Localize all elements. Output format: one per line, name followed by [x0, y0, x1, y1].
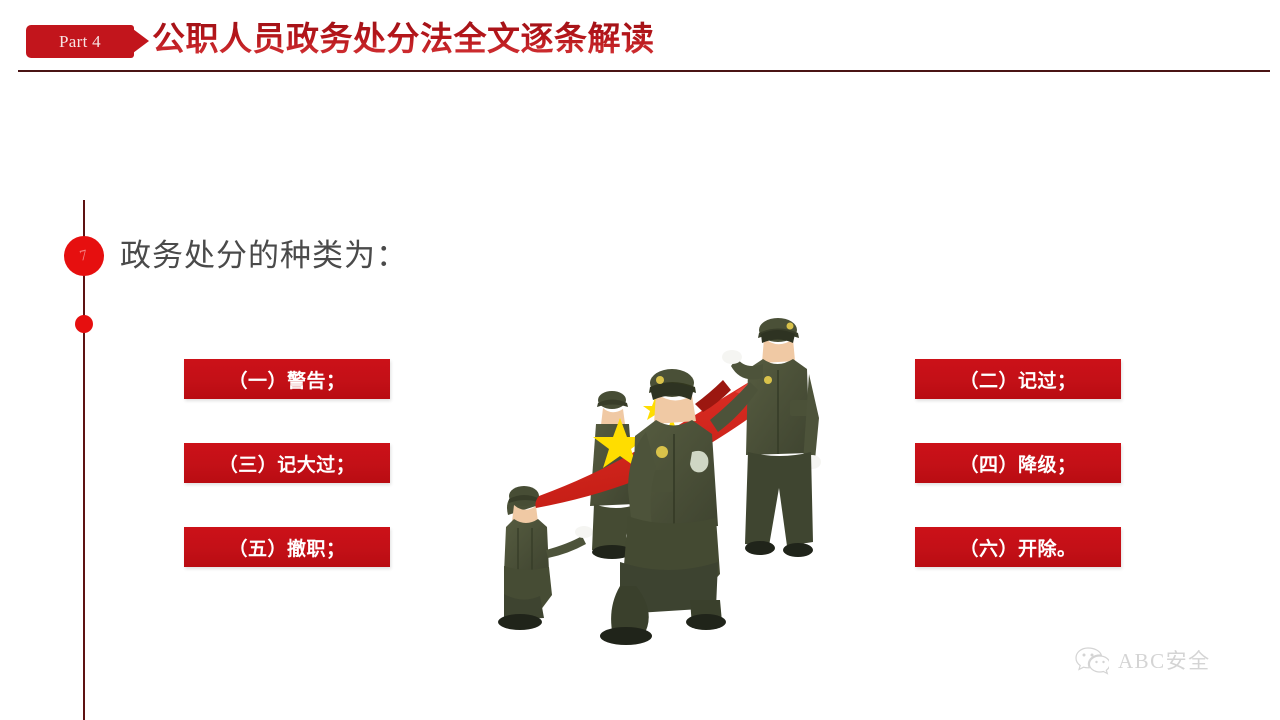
punishment-item-box: （四）降级； [915, 443, 1121, 483]
punishment-item-label: （四）降级； [959, 450, 1076, 477]
punishment-item-label: （二）记过； [959, 366, 1076, 393]
soldier-right-standing [722, 318, 821, 557]
header-divider [18, 70, 1270, 72]
punishment-item-label: （五）撤职； [228, 534, 345, 561]
punishment-item-box: （六）开除。 [915, 527, 1121, 567]
slide-header: Part 4 公职人员政务处分法全文逐条解读 [0, 0, 1280, 72]
soldier-far-left [498, 486, 593, 630]
punishment-item-box: （三）记大过； [184, 443, 390, 483]
part-badge: Part 4 [26, 25, 134, 58]
watermark: ABC安全 [1075, 645, 1211, 675]
punishment-item-box: （五）撤职； [184, 527, 390, 567]
timeline-bullet-number: 7 [79, 247, 90, 265]
part-badge-label: Part 4 [59, 32, 101, 52]
punishment-item-label: （三）记大过； [219, 450, 356, 477]
timeline-bullet-large: 7 [64, 236, 104, 276]
page-title: 公职人员政务处分法全文逐条解读 [152, 17, 655, 61]
punishment-item-label: （六）开除。 [959, 534, 1076, 561]
soldiers-flag-illustration [460, 300, 860, 645]
punishment-item-box: （一）警告； [184, 359, 390, 399]
punishment-item-label: （一）警告； [228, 366, 345, 393]
timeline-bullet-small [75, 315, 93, 333]
wechat-icon [1075, 645, 1109, 675]
timeline-vertical-line [83, 200, 85, 720]
presentation-slide: Part 4 公职人员政务处分法全文逐条解读 7 政务处分的种类为： （一）警告… [0, 0, 1280, 720]
watermark-label: ABC安全 [1118, 645, 1211, 675]
soldier-center-kneeling [600, 369, 758, 645]
section-heading: 政务处分的种类为： [120, 234, 408, 278]
punishment-item-box: （二）记过； [915, 359, 1121, 399]
